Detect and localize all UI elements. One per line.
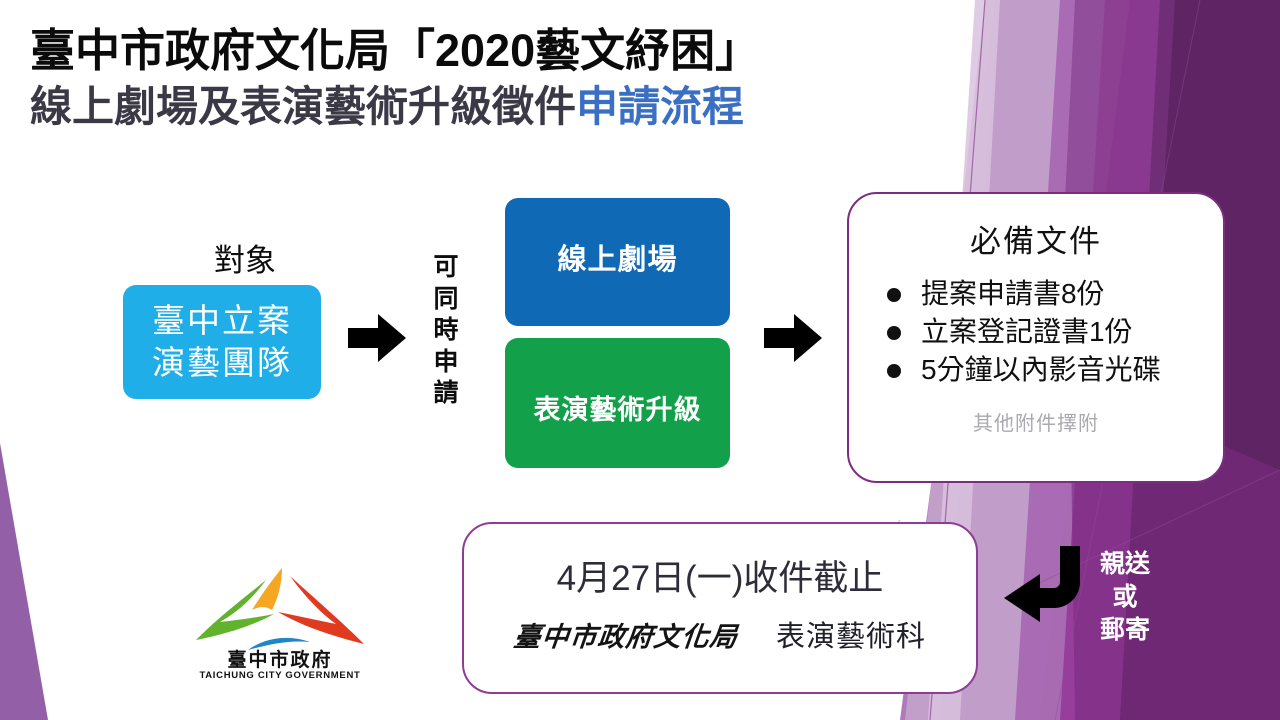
deadline-date: 4月27日(一)收件截止 [464, 550, 976, 601]
list-item-label: 提案申請書8份 [921, 278, 1105, 309]
title-line-2-main: 線上劇場及表演藝術升級徵件 [30, 83, 576, 130]
title-line-1: 臺中市政府文化局「2020藝文紓困」 [30, 24, 960, 77]
program-label-performing-arts-upgrade: 表演藝術升級 [534, 388, 702, 427]
concurrent-note-char-2: 同 [428, 284, 464, 316]
list-item-label: 立案登記證書1份 [921, 316, 1133, 347]
elbow-left-arrow-icon [1000, 540, 1092, 632]
logo-name-en: TAICHUNG CITY GOVERNMENT [199, 670, 360, 680]
delivery-method-note: 親送 或 郵寄 [1090, 548, 1160, 647]
title-line-2-accent: 申請流程 [576, 83, 744, 130]
logo-mountain-swooshes [196, 568, 364, 650]
bullet-dot-icon [887, 364, 901, 378]
concurrent-note-char-1: 可 [428, 252, 464, 284]
division-name: 表演藝術科 [776, 613, 926, 655]
target-box: 臺中立案 演藝團隊 [123, 285, 321, 399]
title-line-2: 線上劇場及表演藝術升級徵件申請流程 [30, 81, 960, 134]
bullet-dot-icon [887, 288, 901, 302]
deadline-panel: 4月27日(一)收件截止 臺中市政府文化局 表演藝術科 [462, 522, 978, 694]
delivery-note-line-1: 親送 [1090, 548, 1160, 581]
list-item: 提案申請書8份 [887, 275, 1223, 313]
target-label: 對象 [130, 235, 360, 280]
target-box-line-2: 演藝團隊 [152, 342, 292, 384]
list-item-label: 5分鐘以內影音光碟 [921, 354, 1161, 385]
list-item: 5分鐘以內影音光碟 [887, 351, 1223, 389]
delivery-note-line-2: 或 [1090, 581, 1160, 614]
target-box-line-1: 臺中立案 [152, 300, 292, 342]
logo-swoosh-green [196, 580, 274, 640]
right-arrow-icon-1 [348, 314, 406, 362]
left-purple-wedge [0, 443, 48, 720]
delivery-note-line-3: 郵寄 [1090, 614, 1160, 647]
right-arrow-icon-2 [764, 314, 822, 362]
deadline-signature-row: 臺中市政府文化局 表演藝術科 [464, 613, 976, 655]
concurrent-note-char-3: 時 [428, 315, 464, 347]
program-label-online-theatre: 線上劇場 [557, 236, 677, 278]
logo-swoosh-red [278, 576, 364, 644]
list-item: 立案登記證書1份 [887, 313, 1223, 351]
program-box-online-theatre: 線上劇場 [505, 198, 730, 326]
logo-name-zh: 臺中市政府 [227, 648, 332, 671]
concurrent-application-note: 可 同 時 申 請 [428, 252, 464, 410]
program-box-performing-arts-upgrade: 表演藝術升級 [505, 338, 730, 468]
bullet-dot-icon [887, 326, 901, 340]
required-documents-panel: 必備文件 提案申請書8份 立案登記證書1份 5分鐘以內影音光碟 其他附件擇附 [847, 192, 1225, 483]
bureau-calligraphy-signature: 臺中市政府文化局 [512, 615, 740, 654]
required-documents-list: 提案申請書8份 立案登記證書1份 5分鐘以內影音光碟 [849, 275, 1223, 389]
slide-canvas: 臺中市政府文化局「2020藝文紓困」 線上劇場及表演藝術升級徵件申請流程 對象 … [0, 0, 1280, 720]
page-title: 臺中市政府文化局「2020藝文紓困」 線上劇場及表演藝術升級徵件申請流程 [30, 24, 960, 134]
taichung-city-government-logo: 臺中市政府 TAICHUNG CITY GOVERNMENT [190, 558, 370, 680]
concurrent-note-char-4: 申 [428, 347, 464, 379]
optional-attachments-note: 其他附件擇附 [849, 407, 1223, 436]
concurrent-note-char-5: 請 [428, 378, 464, 410]
required-documents-title: 必備文件 [849, 216, 1223, 261]
